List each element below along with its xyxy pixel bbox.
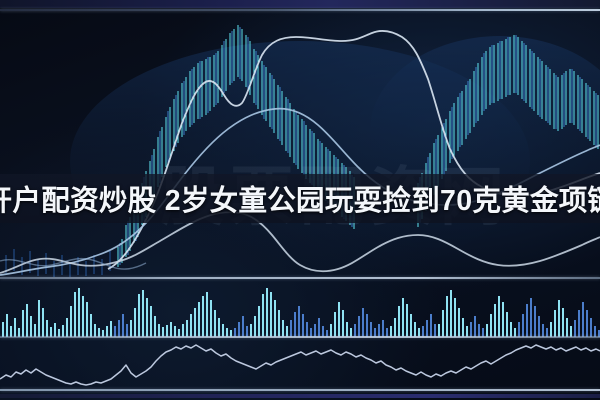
headline-text: 开户配资炒股 2岁女童公园玩耍捡到70克黄金项链: [0, 174, 600, 223]
top-divider-rule: [0, 9, 600, 11]
oscillator-divider-rule: [0, 336, 600, 338]
volume-bars: [3, 288, 599, 337]
volume-chart-svg: [0, 280, 600, 337]
oscillator-line: [0, 345, 600, 385]
oscillator-chart-svg: [0, 339, 600, 390]
oscillator-panel: [0, 339, 600, 390]
bottom-violet-rule: [0, 394, 600, 398]
top-violet-rule: [0, 0, 600, 8]
volume-divider-rule: [0, 277, 600, 279]
volume-panel: [0, 280, 600, 337]
stock-chart-banner: 股票配资网 开户配资炒股 2岁女童公园玩耍捡到70克黄金项链: [0, 0, 600, 400]
bottom-divider-rule: [0, 389, 600, 391]
